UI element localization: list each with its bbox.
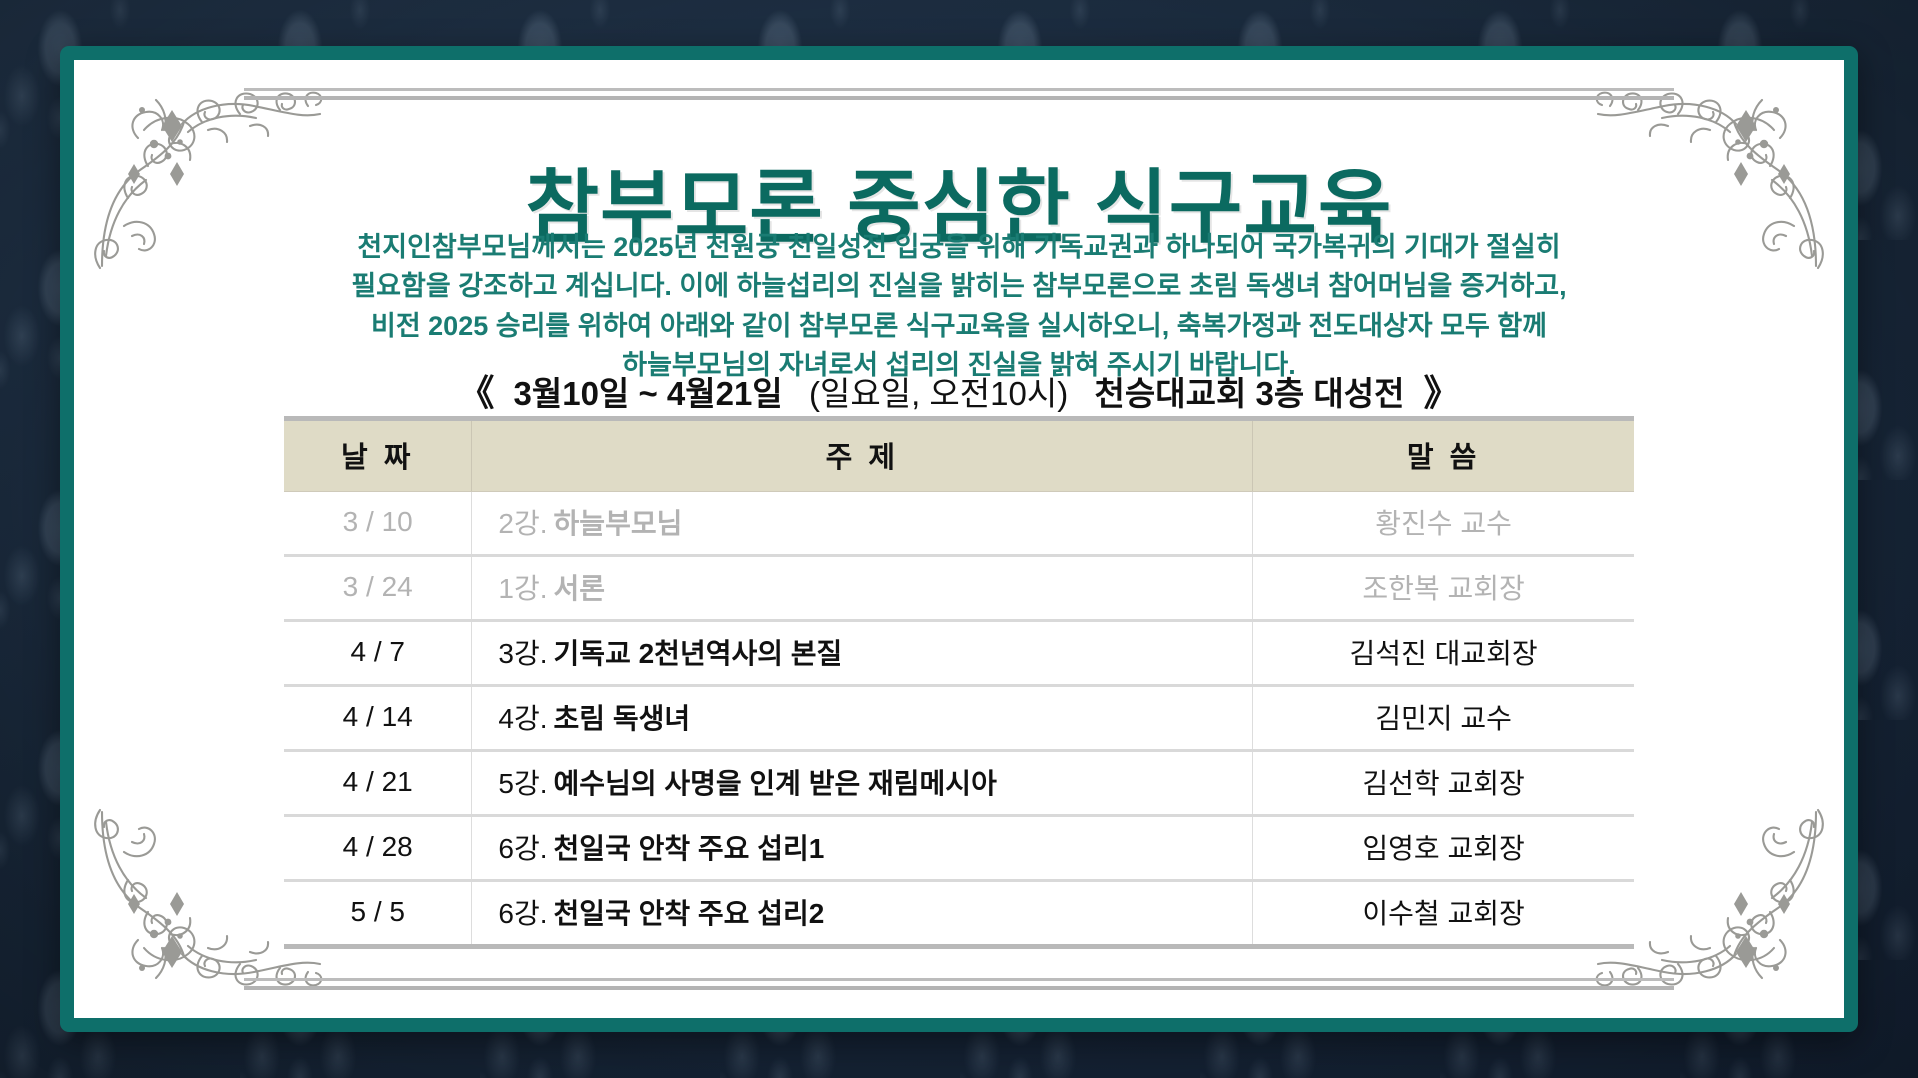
- column-header-speaker: 말 씀: [1253, 419, 1634, 492]
- cell-topic: 6강.천일국 안착 주요 섭리2: [472, 881, 1253, 947]
- lecture-title: 하늘부모님: [554, 508, 683, 539]
- table-head: 날 짜 주 제 말 씀: [284, 419, 1634, 492]
- cell-topic: 1강.서론: [472, 556, 1253, 621]
- lecture-number: 4강.: [498, 703, 547, 734]
- schedule-headline: 《 3월10일 ~ 4월21일 (일요일, 오전10시) 천승대교회 3층 대성…: [74, 364, 1844, 416]
- cell-topic: 2강.하늘부모님: [472, 492, 1253, 556]
- table-body: 3 / 102강.하늘부모님황진수 교수3 / 241강.서론조한복 교회장4 …: [284, 492, 1634, 947]
- cell-topic: 5강.예수님의 사명을 인계 받은 재림메시아: [472, 751, 1253, 816]
- cell-topic: 3강.기독교 2천년역사의 본질: [472, 621, 1253, 686]
- cell-speaker: 조한복 교회장: [1253, 556, 1634, 621]
- table-row: 4 / 215강.예수님의 사명을 인계 받은 재림메시아김선학 교회장: [284, 751, 1634, 816]
- top-divider-rule: [244, 88, 1674, 100]
- teal-frame-border: 참부모론 중심한 식구교육 천지인참부모님께서는 2025년 천원궁 천일성전 …: [60, 46, 1858, 1032]
- lecture-title: 천일국 안착 주요 섭리1: [554, 833, 825, 864]
- table-row: 4 / 144강.초림 독생녀김민지 교수: [284, 686, 1634, 751]
- cell-speaker: 김석진 대교회장: [1253, 621, 1634, 686]
- lecture-number: 1강.: [498, 573, 547, 604]
- table-row: 3 / 241강.서론조한복 교회장: [284, 556, 1634, 621]
- lecture-title: 서론: [554, 573, 606, 604]
- intro-line-3: 비전 2025 승리를 위하여 아래와 같이 참부모론 식구교육을 실시하오니,…: [114, 307, 1804, 346]
- lecture-number: 3강.: [498, 638, 547, 669]
- cell-date: 4 / 28: [284, 816, 472, 881]
- lecture-title: 기독교 2천년역사의 본질: [554, 638, 843, 669]
- table-row: 3 / 102강.하늘부모님황진수 교수: [284, 492, 1634, 556]
- poster-root: 참부모론 중심한 식구교육 천지인참부모님께서는 2025년 천원궁 천일성전 …: [0, 0, 1918, 1078]
- cell-topic: 4강.초림 독생녀: [472, 686, 1253, 751]
- table-header-row: 날 짜 주 제 말 씀: [284, 419, 1634, 492]
- column-header-topic: 주 제: [472, 419, 1253, 492]
- open-bracket: 《: [458, 372, 494, 413]
- time-note: (일요일, 오전10시): [809, 375, 1068, 412]
- date-range: 3월10일 ~ 4월21일: [514, 375, 783, 412]
- cell-speaker: 이수철 교회장: [1253, 881, 1634, 947]
- lecture-title: 초림 독생녀: [554, 703, 691, 734]
- white-content-card: 참부모론 중심한 식구교육 천지인참부모님께서는 2025년 천원궁 천일성전 …: [74, 60, 1844, 1018]
- lecture-number: 6강.: [498, 898, 547, 929]
- cell-date: 4 / 7: [284, 621, 472, 686]
- table-row: 4 / 73강.기독교 2천년역사의 본질김석진 대교회장: [284, 621, 1634, 686]
- cell-speaker: 김선학 교회장: [1253, 751, 1634, 816]
- intro-line-2: 필요함을 강조하고 계십니다. 이에 하늘섭리의 진실을 밝히는 참부모론으로 …: [114, 267, 1804, 306]
- cell-date: 4 / 21: [284, 751, 472, 816]
- cell-date: 3 / 10: [284, 492, 472, 556]
- intro-paragraph: 천지인참부모님께서는 2025년 천원궁 천일성전 입궁을 위해 기독교권과 하…: [114, 228, 1804, 386]
- cell-date: 4 / 14: [284, 686, 472, 751]
- schedule-table-container: 날 짜 주 제 말 씀 3 / 102강.하늘부모님황진수 교수3 / 241강…: [284, 416, 1634, 949]
- cell-speaker: 김민지 교수: [1253, 686, 1634, 751]
- table-row: 4 / 286강.천일국 안착 주요 섭리1임영호 교회장: [284, 816, 1634, 881]
- venue: 천승대교회 3층 대성전: [1095, 375, 1405, 412]
- column-header-date: 날 짜: [284, 419, 472, 492]
- table-row: 5 / 56강.천일국 안착 주요 섭리2이수철 교회장: [284, 881, 1634, 947]
- cell-speaker: 임영호 교회장: [1253, 816, 1634, 881]
- lecture-title: 예수님의 사명을 인계 받은 재림메시아: [554, 768, 997, 799]
- close-bracket: 》: [1424, 372, 1460, 413]
- lecture-number: 5강.: [498, 768, 547, 799]
- lecture-number: 6강.: [498, 833, 547, 864]
- lecture-number: 2강.: [498, 508, 547, 539]
- bottom-divider-rule: [244, 978, 1674, 990]
- intro-line-1: 천지인참부모님께서는 2025년 천원궁 천일성전 입궁을 위해 기독교권과 하…: [114, 228, 1804, 267]
- cell-date: 3 / 24: [284, 556, 472, 621]
- cell-date: 5 / 5: [284, 881, 472, 947]
- cell-topic: 6강.천일국 안착 주요 섭리1: [472, 816, 1253, 881]
- cell-speaker: 황진수 교수: [1253, 492, 1634, 556]
- schedule-table: 날 짜 주 제 말 씀 3 / 102강.하늘부모님황진수 교수3 / 241강…: [284, 416, 1634, 949]
- lecture-title: 천일국 안착 주요 섭리2: [554, 898, 825, 929]
